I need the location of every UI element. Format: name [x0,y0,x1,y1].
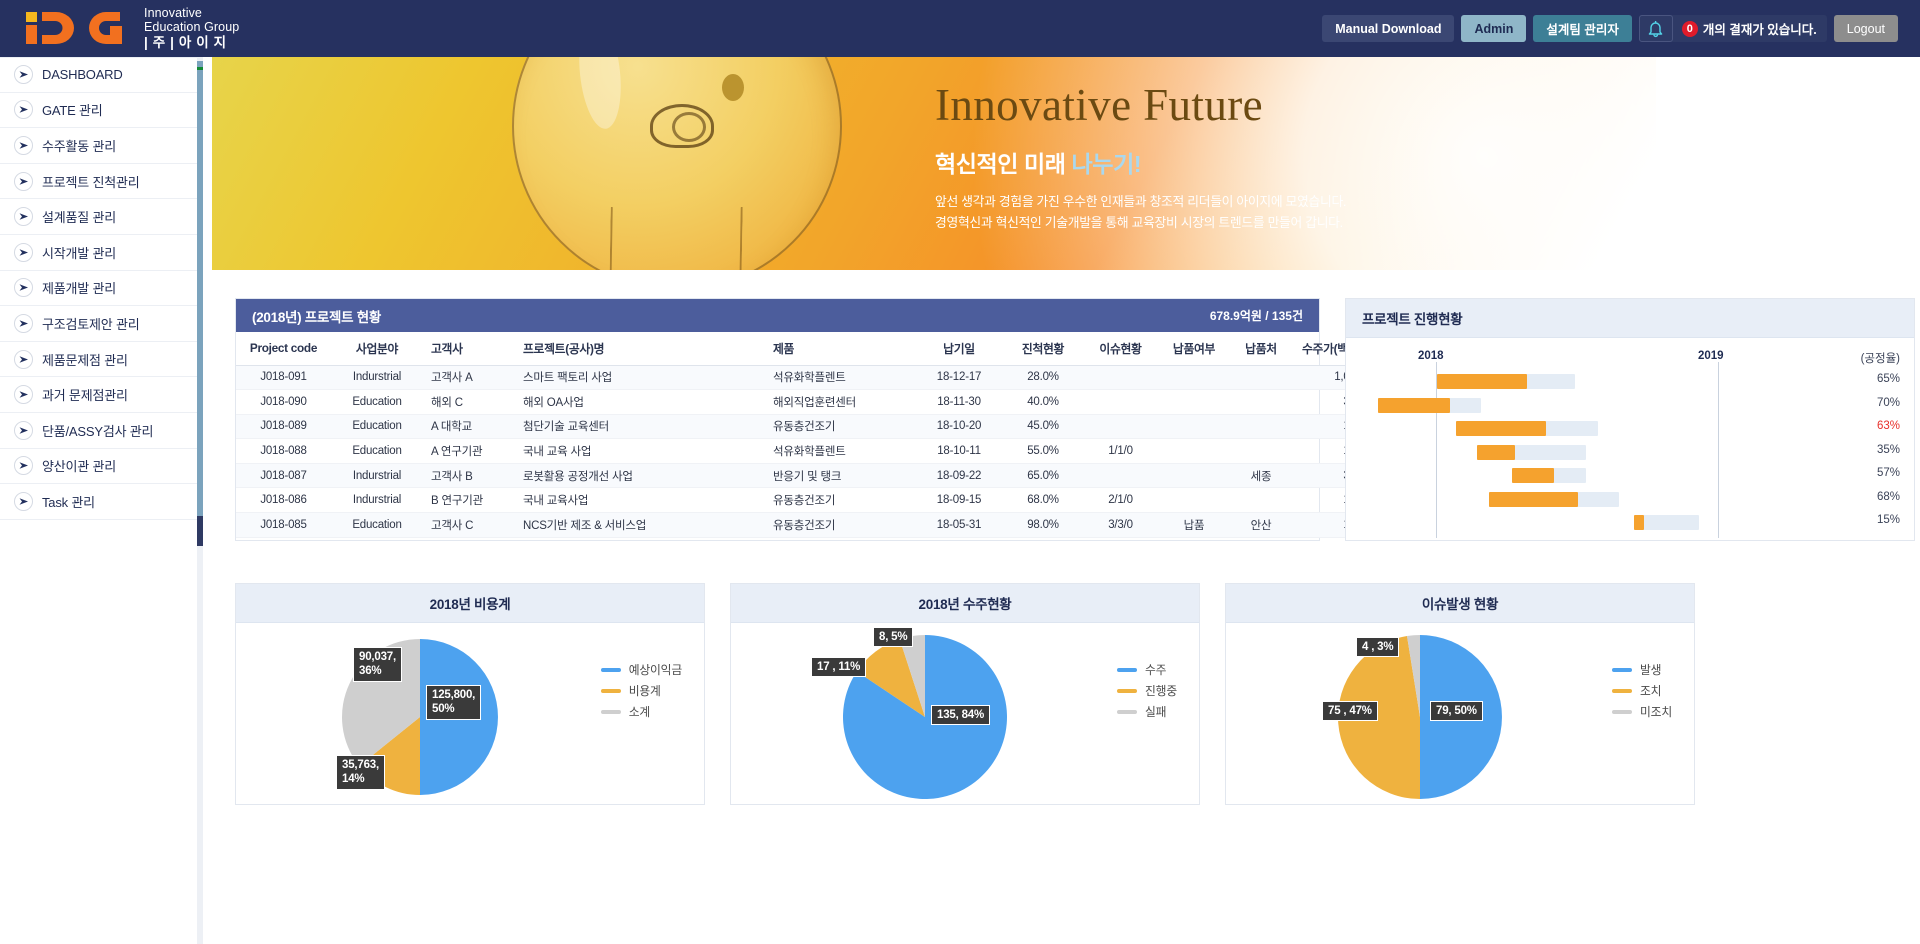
sidebar-item-label: DASHBOARD [42,67,123,82]
order-pie-header: 2018년 수주현황 [731,584,1199,623]
legend-label: 조치 [1640,682,1661,699]
project-status-panel: (2018년) 프로젝트 현황 678.9억원 / 135건 Project c… [235,298,1320,541]
sidebar-item-label: GATE 관리 [42,100,103,119]
cell-progress: 65.0% [1003,463,1083,488]
gantt-row: 70% [1346,394,1914,418]
order-pie-title: 2018년 수주현황 [919,593,1012,613]
project-table-header-row: Project code사업분야고객사프로젝트(공사)명제품납기일진척현황이슈현… [236,332,1378,365]
cell-issue [1083,390,1158,415]
pie-data-label: 17 , 11% [811,657,866,677]
sidebar-item-label: 시작개발 관리 [42,243,116,262]
legend-swatch [601,668,621,672]
legend-label: 실패 [1145,703,1166,720]
cell-field: Education [331,414,423,439]
brand-line-2: Education Group [144,20,239,34]
sidebar-item-label: 단품/ASSY검사 관리 [42,421,153,440]
cell-issue [1083,463,1158,488]
cell-customer: 해외 C [423,390,515,415]
legend-item[interactable]: 수주 [1117,661,1177,678]
hero-banner: Innovative Future 혁신적인 미래 나누기! 앞선 생각과 경험… [212,57,1656,270]
legend-label: 수주 [1145,661,1166,678]
pie-data-label: 8, 5% [873,627,913,647]
col-header-2: 고객사 [423,332,515,365]
gantt-fill [1477,445,1515,460]
sidebar: DASHBOARDGATE 관리수주활동 관리프로젝트 진척관리설계품질 관리시… [0,57,203,944]
table-row[interactable]: J018-090Education해외 C해외 OA사업해외직업훈련센터18-1… [236,390,1378,415]
project-table-body: J018-091Indurstrial고객사 A스마트 팩토리 사업석유화학플렌… [236,365,1378,537]
sidebar-item-label: Task 관리 [42,492,95,511]
logout-button[interactable]: Logout [1834,15,1898,42]
cell-product: 해외직업훈련센터 [765,390,915,415]
cell-issue: 2/1/0 [1083,488,1158,513]
arrow-right-icon [14,350,33,369]
legend-swatch [1117,689,1137,693]
manual-download-button[interactable]: Manual Download [1322,15,1454,42]
idg-logo-icon [24,8,136,48]
col-header-6: 진척현황 [1003,332,1083,365]
legend-swatch [601,710,621,714]
pie-data-label: 90,037, 36% [353,647,402,682]
legend-item[interactable]: 조치 [1612,682,1672,699]
gantt-percent-label: 68% [1856,491,1900,503]
cell-progress: 45.0% [1003,414,1083,439]
legend-label: 예상이익금 [629,661,682,678]
legend-swatch [1117,710,1137,714]
cell-dest: 안산 [1230,513,1292,538]
sidebar-item-label: 프로젝트 진척관리 [42,172,140,191]
col-header-9: 납품처 [1230,332,1292,365]
gantt-year-left: 2018 [1418,350,1444,362]
banner-sub-accent: 나누기! [1072,151,1142,177]
order-pie-body: 135, 84%17 , 11%8, 5%수주진행중실패 [731,623,1199,805]
gantt-panel-title: 프로젝트 진행현황 [1362,308,1462,328]
banner-desc-line-1: 앞선 생각과 경험을 가진 우수한 인재들과 창조적 리더들이 아이지에 모였습… [935,192,1346,213]
cell-field: Education [331,390,423,415]
table-row[interactable]: J018-085Education고객사 CNCS기반 제조 & 서비스업유동층… [236,513,1378,538]
gantt-row: 15% [1346,511,1914,535]
cell-progress: 55.0% [1003,439,1083,464]
arrow-right-icon [14,65,33,84]
issue-pie-body: 79, 50%75 , 47%4 , 3%발생조치미조치 [1226,623,1694,805]
pie-data-label: 75 , 47% [1322,701,1378,721]
gantt-rows: 65%70%63%35%57%68%15% [1346,370,1914,535]
legend-label: 비용계 [629,682,661,699]
cell-field: Education [331,439,423,464]
cell-due: 18-11-30 [915,390,1003,415]
gantt-percent-label: 35% [1856,444,1900,456]
sidebar-item-6[interactable]: 제품개발 관리 [0,271,197,307]
legend-swatch [1612,689,1632,693]
admin-button[interactable]: Admin [1461,15,1526,42]
lightbulb-dot [722,74,744,101]
project-panel-title: (2018년) 프로젝트 현황 [252,306,381,326]
brand-line-3: | 주 | 아 이 지 [144,35,239,50]
cell-project: 스마트 팩토리 사업 [515,365,765,390]
cell-issue [1083,414,1158,439]
cell-product: 반응기 및 탱크 [765,463,915,488]
cost-pie-header: 2018년 비용계 [236,584,704,623]
cell-code: J018-086 [236,488,331,513]
cell-progress: 40.0% [1003,390,1083,415]
cell-delivered [1158,365,1230,390]
approval-count-badge: 0 [1682,21,1698,37]
col-header-3: 프로젝트(공사)명 [515,332,765,365]
gantt-percent-label: 70% [1856,397,1900,409]
sidebar-item-5[interactable]: 시작개발 관리 [0,235,197,271]
cost-pie-body: 125,800, 50%35,763, 14%90,037, 36%예상이익금비… [236,623,704,805]
cell-product: 유동층건조기 [765,488,915,513]
arrow-right-icon [14,314,33,333]
cell-progress: 68.0% [1003,488,1083,513]
legend-label: 발생 [1640,661,1661,678]
cell-customer: 고객사 C [423,513,515,538]
cell-due: 18-10-20 [915,414,1003,439]
cell-project: 로봇활용 공정개선 사업 [515,463,765,488]
cell-customer: 고객사 A [423,365,515,390]
cell-project: 첨단기술 교육센터 [515,414,765,439]
gantt-chart: 2018 2019 (공정율) 65%70%63%35%57%68%15% [1346,338,1914,541]
pie-data-label: 4 , 3% [1356,637,1399,657]
sidebar-item-2[interactable]: 수주활동 관리 [0,128,197,164]
approval-text: 개의 결재가 있습니다. [1703,19,1817,38]
banner-sub-white: 혁신적인 미래 [935,151,1072,177]
gantt-row: 68% [1346,488,1914,512]
sidebar-item-label: 제품개발 관리 [42,278,116,297]
legend-label: 미조치 [1640,703,1672,720]
legend-item[interactable]: 발생 [1612,661,1672,678]
pie-data-label: 79, 50% [1430,701,1483,721]
cell-delivered: 납품 [1158,513,1230,538]
col-header-4: 제품 [765,332,915,365]
cell-project: 국내 교육사업 [515,488,765,513]
arrow-right-icon [14,172,33,191]
gantt-fill [1378,398,1450,413]
team-manager-button[interactable]: 설계팀 관리자 [1533,15,1631,42]
table-row[interactable]: J018-088EducationA 연구기관국내 교육 사업석유화학플렌트18… [236,439,1378,464]
arrow-right-icon [14,421,33,440]
lightbulb-filament-inner [672,112,706,142]
gantt-fill [1456,421,1546,436]
project-table: Project code사업분야고객사프로젝트(공사)명제품납기일진척현황이슈현… [236,332,1378,538]
cell-due: 18-10-11 [915,439,1003,464]
cell-product: 석유화학플렌트 [765,439,915,464]
gantt-row: 35% [1346,441,1914,465]
legend-swatch [1117,668,1137,672]
cell-progress: 98.0% [1003,513,1083,538]
brand-line-1: Innovative [144,6,239,20]
pie-data-label: 135, 84% [931,705,990,725]
issue-pie-title: 이슈발생 현황 [1422,593,1498,613]
sidebar-item-1[interactable]: GATE 관리 [0,93,197,129]
gantt-fill [1489,492,1578,507]
cell-code: J018-091 [236,365,331,390]
cell-dest [1230,414,1292,439]
table-row[interactable]: J018-086IndurstrialB 연구기관국내 교육사업유동층건조기18… [236,488,1378,513]
project-progress-panel: 프로젝트 진행현황 2018 2019 (공정율) 65%70%63%35%57… [1345,298,1915,541]
gantt-row: 63% [1346,417,1914,441]
cell-delivered [1158,414,1230,439]
approval-notification[interactable]: 0 개의 결재가 있습니다. [1639,15,1827,42]
arrow-right-icon [14,492,33,511]
banner-headline: Innovative Future [935,79,1346,131]
arrow-right-icon [14,100,33,119]
gantt-percent-header: (공정율) [1861,350,1900,366]
cell-due: 18-12-17 [915,365,1003,390]
cell-delivered [1158,390,1230,415]
col-header-1: 사업분야 [331,332,423,365]
pie-legend: 예상이익금비용계소계 [601,661,682,724]
cell-product: 유동층건조기 [765,513,915,538]
legend-item[interactable]: 미조치 [1612,703,1672,720]
cell-dest [1230,488,1292,513]
gantt-row: 57% [1346,464,1914,488]
banner-desc-line-2: 경영혁신과 혁신적인 기술개발을 통해 교육장비 시장의 트렌드를 만들어 갑니… [935,213,1346,234]
gantt-row: 65% [1346,370,1914,394]
lightbulb-neck [609,207,743,270]
pie-legend: 발생조치미조치 [1612,661,1672,724]
legend-item[interactable]: 실패 [1117,703,1177,720]
brand-logo[interactable]: Innovative Education Group | 주 | 아 이 지 [0,6,239,50]
cell-code: J018-087 [236,463,331,488]
col-header-7: 이슈현황 [1083,332,1158,365]
issue-pie-header: 이슈발생 현황 [1226,584,1694,623]
banner-subheadline: 혁신적인 미래 나누기! [935,145,1346,179]
sidebar-item-label: 설계품질 관리 [42,207,116,226]
banner-text-block: Innovative Future 혁신적인 미래 나누기! 앞선 생각과 경험… [935,79,1346,233]
cell-delivered [1158,488,1230,513]
cell-dest [1230,390,1292,415]
cost-pie-panel: 2018년 비용계 125,800, 50%35,763, 14%90,037,… [235,583,705,805]
cell-product: 유동층건조기 [765,414,915,439]
cell-customer: B 연구기관 [423,488,515,513]
table-row[interactable]: J018-089EducationA 대학교첨단기술 교육센터유동층건조기18-… [236,414,1378,439]
cell-due: 18-09-15 [915,488,1003,513]
top-actions: Manual Download Admin 설계팀 관리자 0 개의 결재가 있… [1322,15,1920,42]
order-pie-panel: 2018년 수주현황 135, 84%17 , 11%8, 5%수주진행중실패 [730,583,1200,805]
cell-delivered [1158,463,1230,488]
banner-description: 앞선 생각과 경험을 가진 우수한 인재들과 창조적 리더들이 아이지에 모였습… [935,192,1346,233]
table-row[interactable]: J018-087Indurstrial고객사 B로봇활용 공정개선 사업반응기 … [236,463,1378,488]
cell-field: Indurstrial [331,463,423,488]
sidebar-menu: DASHBOARDGATE 관리수주활동 관리프로젝트 진척관리설계품질 관리시… [0,57,197,520]
sidebar-item-label: 구조검토제안 관리 [42,314,140,333]
cell-issue [1083,365,1158,390]
gantt-panel-header: 프로젝트 진행현황 [1346,299,1914,338]
sidebar-item-7[interactable]: 구조검토제안 관리 [0,306,197,342]
legend-item[interactable]: 진행중 [1117,682,1177,699]
sidebar-item-11[interactable]: 양산이관 관리 [0,449,197,485]
cell-due: 18-05-31 [915,513,1003,538]
legend-swatch [1612,710,1632,714]
sidebar-item-3[interactable]: 프로젝트 진척관리 [0,164,197,200]
arrow-right-icon [14,456,33,475]
cell-due: 18-09-22 [915,463,1003,488]
sidebar-item-8[interactable]: 제품문제점 관리 [0,342,197,378]
arrow-right-icon [14,278,33,297]
sidebar-item-0[interactable]: DASHBOARD [0,57,197,93]
sidebar-item-4[interactable]: 설계품질 관리 [0,199,197,235]
cost-pie-title: 2018년 비용계 [430,593,511,613]
arrow-right-icon [14,207,33,226]
sidebar-scrollbar-thumb[interactable] [197,61,203,516]
cell-field: Indurstrial [331,488,423,513]
legend-swatch [1612,668,1632,672]
cell-delivered [1158,439,1230,464]
cell-issue: 3/3/0 [1083,513,1158,538]
cell-field: Education [331,513,423,538]
arrow-right-icon [14,136,33,155]
top-bar: Innovative Education Group | 주 | 아 이 지 M… [0,0,1920,57]
cell-code: J018-090 [236,390,331,415]
table-row[interactable]: J018-091Indurstrial고객사 A스마트 팩토리 사업석유화학플렌… [236,365,1378,390]
legend-item[interactable]: 소계 [601,703,682,720]
cell-project: 해외 OA사업 [515,390,765,415]
cell-dest [1230,439,1292,464]
legend-item[interactable]: 예상이익금 [601,661,682,678]
cell-project: NCS기반 제조 & 서비스업 [515,513,765,538]
col-header-5: 납기일 [915,332,1003,365]
gantt-percent-label: 65% [1856,373,1900,385]
gantt-year-right: 2019 [1698,350,1724,362]
cell-progress: 28.0% [1003,365,1083,390]
cell-dest: 세종 [1230,463,1292,488]
cell-customer: A 대학교 [423,414,515,439]
sidebar-item-label: 양산이관 관리 [42,456,116,475]
sidebar-item-9[interactable]: 과거 문제점관리 [0,377,197,413]
cell-issue: 1/1/0 [1083,439,1158,464]
gantt-percent-label: 57% [1856,467,1900,479]
legend-label: 소계 [629,703,650,720]
arrow-right-icon [14,243,33,262]
gantt-fill [1512,468,1554,483]
col-header-0: Project code [236,332,331,365]
gantt-fill [1634,515,1644,530]
col-header-8: 납품여부 [1158,332,1230,365]
sidebar-item-10[interactable]: 단품/ASSY검사 관리 [0,413,197,449]
cell-customer: A 연구기관 [423,439,515,464]
gantt-percent-label: 63% [1856,420,1900,432]
cell-project: 국내 교육 사업 [515,439,765,464]
sidebar-scrollbar-thumb-secondary[interactable] [197,516,203,546]
legend-item[interactable]: 비용계 [601,682,682,699]
gantt-track [1634,515,1699,530]
sidebar-item-12[interactable]: Task 관리 [0,484,197,520]
cell-dest [1230,365,1292,390]
gantt-fill [1437,374,1527,389]
pie-data-label: 125,800, 50% [426,685,481,720]
legend-swatch [601,689,621,693]
gantt-percent-label: 15% [1856,514,1900,526]
cell-code: J018-085 [236,513,331,538]
project-panel-header: (2018년) 프로젝트 현황 678.9억원 / 135건 [236,299,1319,332]
sidebar-item-label: 수주활동 관리 [42,136,116,155]
issue-pie-panel: 이슈발생 현황 79, 50%75 , 47%4 , 3%발생조치미조치 [1225,583,1695,805]
gantt-axis: 2018 2019 (공정율) [1346,346,1914,370]
cell-field: Indurstrial [331,365,423,390]
bell-icon[interactable] [1639,15,1673,42]
pie-legend: 수주진행중실패 [1117,661,1177,724]
cell-customer: 고객사 B [423,463,515,488]
cell-code: J018-089 [236,414,331,439]
pie-data-label: 35,763, 14% [336,755,385,790]
cell-product: 석유화학플렌트 [765,365,915,390]
cell-code: J018-088 [236,439,331,464]
sidebar-item-label: 제품문제점 관리 [42,350,128,369]
sidebar-scroll-marker [197,67,203,70]
legend-label: 진행중 [1145,682,1177,699]
project-panel-summary: 678.9억원 / 135건 [1210,307,1303,324]
arrow-right-icon [14,385,33,404]
sidebar-item-label: 과거 문제점관리 [42,385,128,404]
